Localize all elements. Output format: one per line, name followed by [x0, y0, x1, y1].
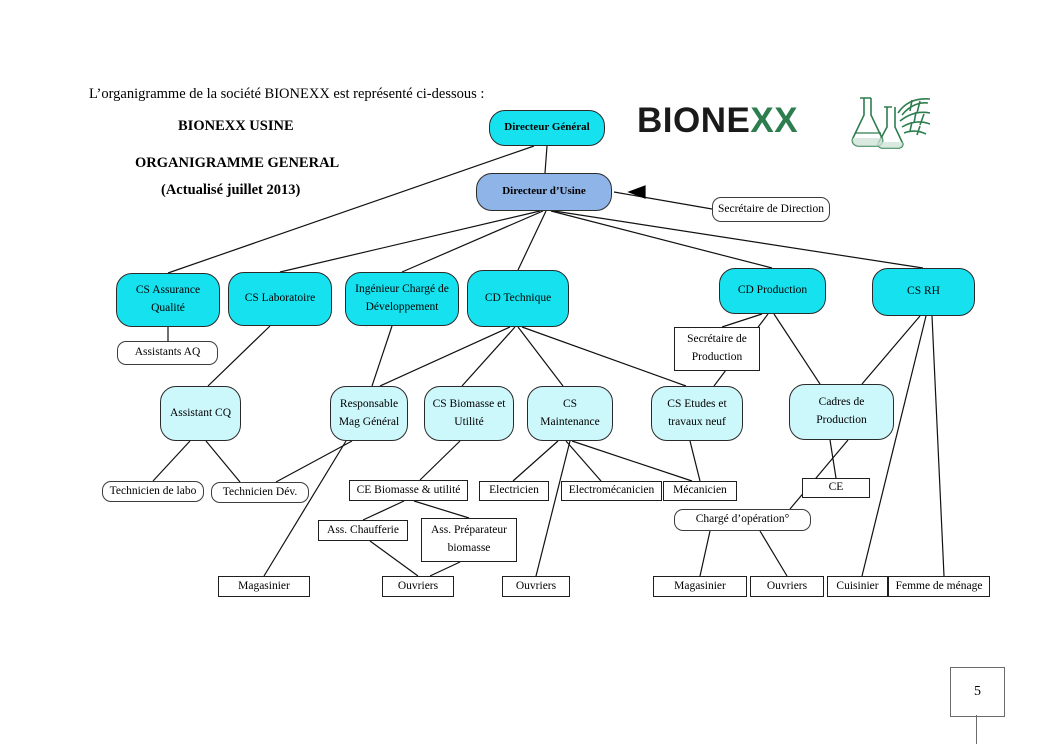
node-label: Maintenance: [540, 414, 599, 432]
node-cs-etudes-et-travaux-neuf[interactable]: CS Etudes et travaux neuf: [651, 386, 743, 441]
node-cs-assurance-qualite[interactable]: CS Assurance Qualité: [116, 273, 220, 327]
node-label: Ass. Préparateur: [431, 522, 507, 540]
node-label: Qualité: [151, 300, 185, 318]
node-label: Electromécanicien: [569, 482, 655, 500]
node-cadres-de-production[interactable]: Cadres de Production: [789, 384, 894, 440]
intro-text: L’organigramme de la société BIONEXX est…: [89, 86, 484, 103]
node-cs-laboratoire[interactable]: CS Laboratoire: [228, 272, 332, 326]
node-label: CS Assurance: [136, 282, 200, 300]
node-label: Ass. Chaufferie: [327, 522, 399, 540]
logo-text-dark: BIONE: [637, 101, 750, 140]
node-label: Ouvriers: [516, 578, 556, 596]
node-label: Ouvriers: [767, 578, 807, 596]
node-assistants-aq[interactable]: Assistants AQ: [117, 341, 218, 365]
heading-company: BIONEXX USINE: [178, 118, 294, 135]
node-cd-production[interactable]: CD Production: [719, 268, 826, 314]
node-ass-chaufferie[interactable]: Ass. Chaufferie: [318, 520, 408, 541]
node-label: CE Biomasse & utilité: [357, 482, 461, 500]
node-ass-preparateur-biomasse[interactable]: Ass. Préparateur biomasse: [421, 518, 517, 562]
heading-chart-title: ORGANIGRAMME GENERAL: [135, 155, 339, 172]
node-label: Production: [816, 412, 866, 430]
node-label: CS RH: [907, 283, 940, 301]
node-cuisinier[interactable]: Cuisinier: [827, 576, 888, 597]
logo-text-green: XX: [750, 101, 798, 140]
node-ce-biomasse-utilite[interactable]: CE Biomasse & utilité: [349, 480, 468, 501]
node-electricien[interactable]: Electricien: [479, 481, 549, 501]
node-technicien-dev[interactable]: Technicien Dév.: [211, 482, 309, 503]
flask-and-plant-illustration: [840, 93, 936, 153]
node-label: CS Biomasse et: [433, 396, 506, 414]
node-label: CS Etudes et: [667, 396, 726, 414]
node-label: Directeur d’Usine: [502, 183, 586, 200]
bionexx-logo: BIONEXX: [637, 99, 937, 151]
node-cs-rh[interactable]: CS RH: [872, 268, 975, 316]
node-label: Magasinier: [674, 578, 726, 596]
node-ce[interactable]: CE: [802, 478, 870, 498]
page-number: 5: [974, 684, 981, 700]
node-ingenieur-charge-de-developpement[interactable]: Ingénieur Chargé de Développement: [345, 272, 459, 326]
node-label: Secrétaire de Direction: [718, 201, 824, 219]
node-directeur-general[interactable]: Directeur Général: [489, 110, 605, 146]
page-number-box: 5: [950, 667, 1005, 717]
node-label: Technicien de labo: [110, 483, 197, 501]
document-page: L’organigramme de la société BIONEXX est…: [0, 0, 1053, 745]
node-mecanicien[interactable]: Mécanicien: [663, 481, 737, 501]
page-number-tail: [976, 715, 977, 744]
node-ouvriers-maintenance[interactable]: Ouvriers: [502, 576, 570, 597]
node-label: biomasse: [448, 540, 491, 558]
heading-updated-date: (Actualisé juillet 2013): [161, 182, 300, 199]
node-label: Chargé d’opération°: [696, 511, 789, 529]
node-label: CS: [563, 396, 577, 414]
node-secretaire-de-production[interactable]: Secrétaire de Production: [674, 327, 760, 371]
node-label: Assistant CQ: [170, 405, 231, 423]
node-directeur-usine[interactable]: Directeur d’Usine: [476, 173, 612, 211]
node-label: Ingénieur Chargé de: [355, 281, 449, 299]
node-cs-maintenance[interactable]: CS Maintenance: [527, 386, 613, 441]
node-electromecanicien[interactable]: Electromécanicien: [561, 481, 662, 501]
node-label: Responsable: [340, 396, 398, 414]
node-label: Cadres de: [819, 394, 865, 412]
node-label: Utilité: [454, 414, 483, 432]
node-femme-de-menage[interactable]: Femme de ménage: [888, 576, 990, 597]
node-label: CS Laboratoire: [245, 290, 316, 308]
node-label: Ouvriers: [398, 578, 438, 596]
node-label: Directeur Général: [504, 119, 589, 136]
node-cd-technique[interactable]: CD Technique: [467, 270, 569, 327]
node-label: Technicien Dév.: [223, 484, 297, 502]
node-cs-biomasse-et-utilite[interactable]: CS Biomasse et Utilité: [424, 386, 514, 441]
node-label: Production: [692, 349, 742, 367]
node-label: Assistants AQ: [135, 344, 201, 362]
node-secretaire-de-direction[interactable]: Secrétaire de Direction: [712, 197, 830, 222]
node-label: CD Technique: [485, 290, 551, 308]
node-magasinier-technique[interactable]: Magasinier: [218, 576, 310, 597]
node-label: Mag Général: [339, 414, 399, 432]
node-label: Electricien: [489, 482, 539, 500]
node-label: CE: [829, 479, 844, 497]
node-label: travaux neuf: [668, 414, 726, 432]
node-magasinier-production[interactable]: Magasinier: [653, 576, 747, 597]
node-label: Femme de ménage: [896, 578, 983, 596]
node-label: Magasinier: [238, 578, 290, 596]
node-label: Secrétaire de: [687, 331, 747, 349]
node-label: Mécanicien: [673, 482, 727, 500]
logo-wordmark: BIONEXX: [637, 99, 798, 143]
node-assistant-cq[interactable]: Assistant CQ: [160, 386, 241, 441]
node-label: Cuisinier: [836, 578, 878, 596]
node-responsable-mag-general[interactable]: Responsable Mag Général: [330, 386, 408, 441]
node-charge-d-operation[interactable]: Chargé d’opération°: [674, 509, 811, 531]
node-technicien-de-labo[interactable]: Technicien de labo: [102, 481, 204, 502]
node-label: Développement: [366, 299, 439, 317]
node-ouvriers-biomasse[interactable]: Ouvriers: [382, 576, 454, 597]
node-label: CD Production: [738, 282, 807, 300]
node-ouvriers-production[interactable]: Ouvriers: [750, 576, 824, 597]
